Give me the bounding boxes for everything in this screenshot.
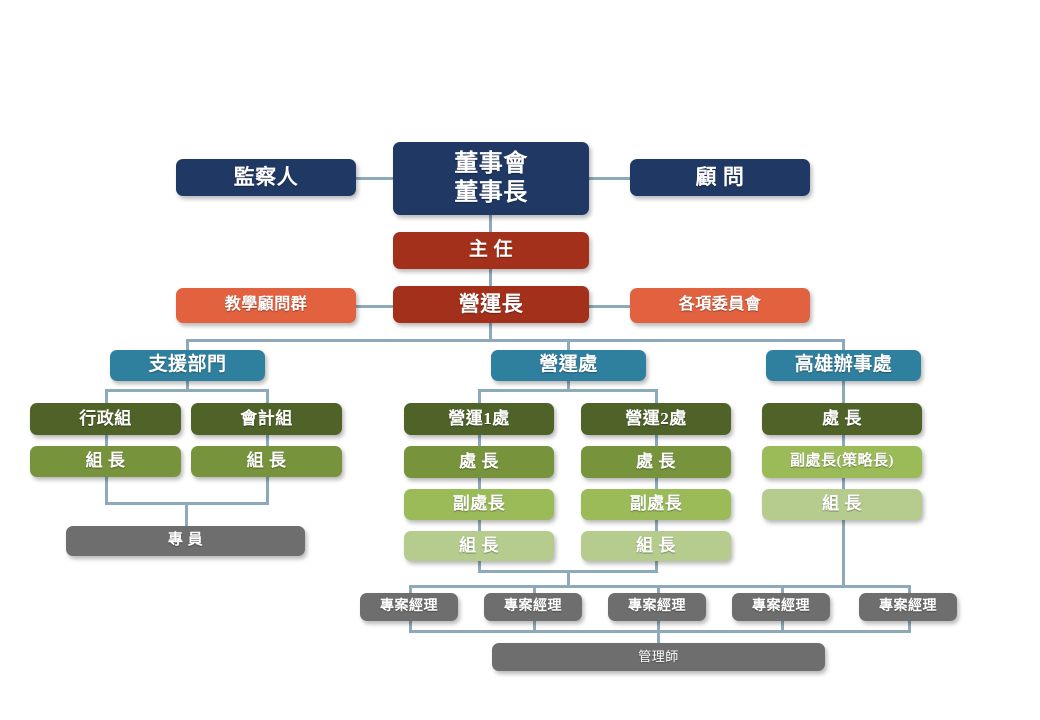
node-project-manager-1[interactable]: 專案經理 <box>360 593 458 621</box>
connector-split-ops2 <box>655 389 658 403</box>
connector-ops1-leader <box>478 520 481 531</box>
node-ops2-leader[interactable]: 組 長 <box>581 531 731 561</box>
connector-ops2-head <box>655 435 658 446</box>
node-board[interactable]: 董事會 董事長 <box>393 142 589 215</box>
node-ops1-head[interactable]: 處 長 <box>404 446 554 478</box>
node-kaohsiung-office[interactable]: 高雄辦事處 <box>766 350 921 381</box>
node-admin-group[interactable]: 行政組 <box>30 403 181 435</box>
connector-ops2-deputy <box>655 478 658 489</box>
connector-operations-split-bus <box>478 389 658 392</box>
connector-pm-bus <box>409 585 911 588</box>
node-committees[interactable]: 各項委員會 <box>630 288 810 323</box>
connector-kh-deputy-leader <box>842 478 845 489</box>
connector-board-advisor <box>588 177 631 180</box>
connector-split-ops1 <box>478 389 481 403</box>
connector-split-admin-group <box>105 389 108 403</box>
node-ops2-head[interactable]: 處 長 <box>581 446 731 478</box>
node-supervisor[interactable]: 監察人 <box>176 159 356 196</box>
connector-split-accounting-group <box>266 389 269 403</box>
connector-ops2-leader <box>655 520 658 531</box>
node-operations-dept[interactable]: 營運處 <box>491 350 646 381</box>
node-support-dept[interactable]: 支援部門 <box>110 350 265 381</box>
node-kaohsiung-leader[interactable]: 組 長 <box>762 489 922 520</box>
node-ops2-deputy[interactable]: 副處長 <box>581 489 731 520</box>
node-accounting-group-leader[interactable]: 組 長 <box>191 446 342 477</box>
node-coo[interactable]: 營運長 <box>393 286 589 323</box>
node-specialist[interactable]: 專 員 <box>66 526 305 556</box>
node-director[interactable]: 主 任 <box>393 232 589 269</box>
connector-board-director <box>489 214 492 232</box>
node-manager[interactable]: 管理師 <box>492 643 825 671</box>
node-ops1-deputy[interactable]: 副處長 <box>404 489 554 520</box>
node-project-manager-4[interactable]: 專案經理 <box>732 593 830 621</box>
node-kaohsiung-deputy[interactable]: 副處長(策略長) <box>762 446 922 478</box>
node-project-manager-2[interactable]: 專案經理 <box>484 593 582 621</box>
node-ops1[interactable]: 營運1處 <box>404 403 554 435</box>
node-ops2[interactable]: 營運2處 <box>581 403 731 435</box>
connector-manager-merge-bus <box>409 630 911 633</box>
connector-kh-head-deputy <box>842 435 845 446</box>
connector-admin-group-leader <box>105 435 108 446</box>
node-ops1-leader[interactable]: 組 長 <box>404 531 554 561</box>
connector-admin-leader-down <box>105 477 108 504</box>
connector-accounting-group-leader <box>266 435 269 446</box>
connector-merge-manager <box>657 630 660 644</box>
node-kaohsiung-head[interactable]: 處 長 <box>762 403 922 435</box>
connector-ops1-deputy <box>478 478 481 489</box>
org-chart-canvas: 監察人 董事會 董事長 顧 問 主 任 教學顧問群 營運長 各項委員會 支援部門… <box>0 0 1040 720</box>
connector-ops1-head <box>478 435 481 446</box>
node-project-manager-3[interactable]: 專案經理 <box>608 593 706 621</box>
connector-kh-leader-down <box>842 520 845 586</box>
connector-director-coo <box>489 268 492 286</box>
connector-departments-bus <box>186 339 845 342</box>
node-project-manager-5[interactable]: 專案經理 <box>859 593 957 621</box>
connector-accounting-leader-down <box>266 477 269 504</box>
node-advisor[interactable]: 顧 問 <box>630 159 810 196</box>
connector-support-split-bus <box>105 389 269 392</box>
node-accounting-group[interactable]: 會計組 <box>191 403 342 435</box>
connector-merge-specialist <box>185 502 188 526</box>
connector-board-supervisor <box>354 177 395 180</box>
connector-coo-teaching-advisors <box>354 305 395 308</box>
connector-kaohsiung-head <box>842 380 845 403</box>
node-admin-group-leader[interactable]: 組 長 <box>30 446 181 477</box>
connector-coo-committees <box>588 305 631 308</box>
node-teaching-advisors[interactable]: 教學顧問群 <box>176 288 356 323</box>
